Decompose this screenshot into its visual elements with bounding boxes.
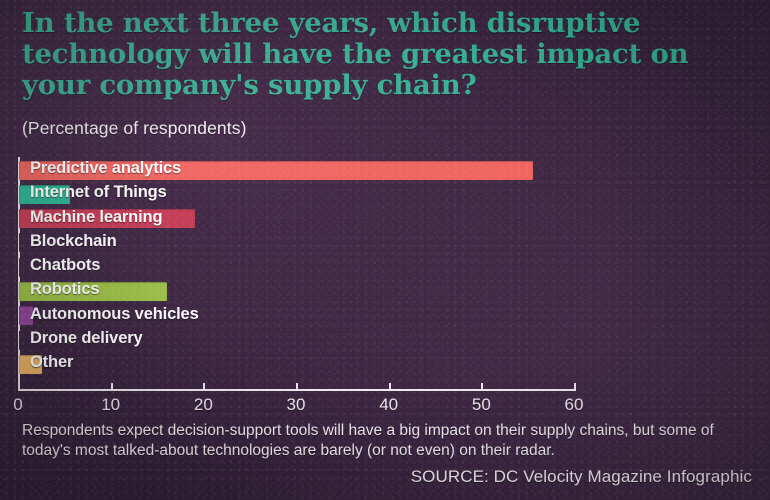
x-tick — [389, 383, 391, 391]
bar-row: Machine learning — [19, 207, 759, 231]
bar-row: Autonomous vehicles — [19, 304, 759, 328]
x-tick-label: 10 — [101, 395, 120, 415]
bar-category-label: Machine learning — [30, 208, 162, 227]
page-title: In the next three years, which disruptiv… — [22, 8, 740, 101]
bar-row: Predictive analytics — [19, 158, 759, 182]
bar — [19, 331, 21, 350]
bar-row: Chatbots — [19, 255, 759, 279]
infographic-root: In the next three years, which disruptiv… — [0, 0, 770, 500]
x-tick-label: 40 — [379, 395, 398, 415]
bar-row: Blockchain — [19, 231, 759, 255]
source-credit: SOURCE: DC Velocity Magazine Infographic — [411, 467, 752, 487]
bar-row: Internet of Things — [19, 182, 759, 206]
x-tick-label: 60 — [565, 395, 584, 415]
x-tick-label: 50 — [472, 395, 491, 415]
bar-category-label: Robotics — [30, 280, 99, 299]
x-tick-label: 20 — [194, 395, 213, 415]
bar-category-label: Blockchain — [30, 232, 117, 251]
bar-row: Robotics — [19, 279, 759, 303]
bar-category-label: Autonomous vehicles — [30, 305, 199, 324]
bar-row: Other — [19, 352, 759, 376]
x-tick — [111, 383, 113, 391]
caption-note: Respondents expect decision-support tool… — [22, 421, 748, 460]
x-tick — [296, 383, 298, 391]
x-tick-label: 0 — [13, 395, 22, 415]
bar-chart: 0102030405060 Predictive analyticsIntern… — [0, 155, 770, 400]
bar-rows: Predictive analyticsInternet of ThingsMa… — [19, 158, 759, 377]
x-tick — [574, 383, 576, 391]
bar-category-label: Other — [30, 353, 73, 372]
x-tick — [481, 383, 483, 391]
bar — [19, 233, 21, 252]
x-tick — [18, 383, 20, 391]
x-tick — [203, 383, 205, 391]
bar — [19, 258, 21, 277]
bar-category-label: Internet of Things — [30, 183, 167, 202]
bar-row: Drone delivery — [19, 328, 759, 352]
bar-category-label: Predictive analytics — [30, 159, 181, 178]
bar-category-label: Chatbots — [30, 256, 100, 275]
bar-category-label: Drone delivery — [30, 329, 143, 348]
x-tick-label: 30 — [287, 395, 306, 415]
chart-subtitle: (Percentage of respondents) — [22, 118, 247, 139]
